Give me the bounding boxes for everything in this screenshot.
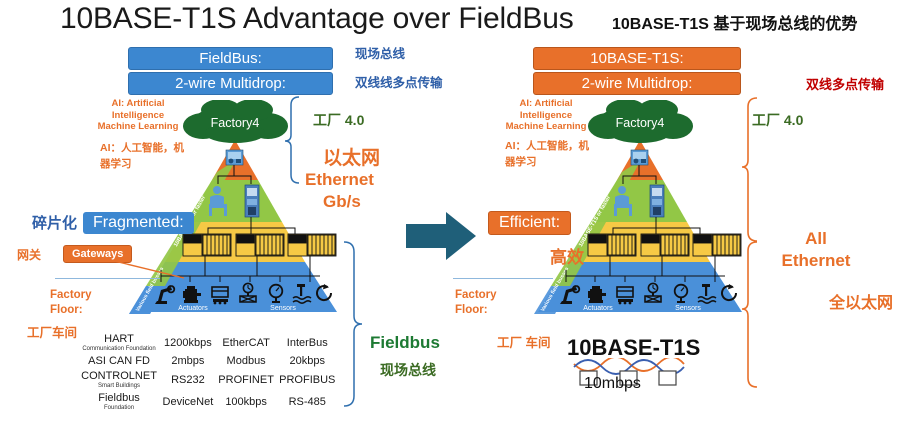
fieldbus-cell: RS232 <box>160 369 216 391</box>
fieldbus-cell: 1200kbps <box>160 332 216 354</box>
table-row: Fieldbus Foundation DeviceNet 100kbps RS… <box>78 391 338 413</box>
fieldbus-cell-name: PROFINET <box>217 374 276 387</box>
right-all-ethernet-line2: Ethernet <box>774 250 858 272</box>
fieldbus-cell: HART Communication Foundation <box>78 332 160 354</box>
right-factory-floor-label: Factory Floor: <box>455 288 497 318</box>
fieldbus-cell-name: PROFIBUS <box>278 374 337 387</box>
right-banner-annotation: 双线多点传输 <box>806 74 884 93</box>
left-banner-annotation-line2: 双线线多点传输 <box>355 72 443 91</box>
fieldbus-cell-name: InterBus <box>278 337 337 350</box>
svg-text:Sensors: Sensors <box>270 305 296 312</box>
right-all-ethernet-line1: All <box>774 228 858 250</box>
fieldbus-cell-name: 1200kbps <box>161 337 215 350</box>
svg-text:Sensors: Sensors <box>675 305 701 312</box>
fieldbus-cell-name: ASI CAN FD <box>79 355 159 368</box>
right-banner-line1: 10BASE-T1S: <box>533 47 741 70</box>
fieldbus-table: HART Communication Foundation 1200kbps E… <box>78 332 338 413</box>
left-factory-floor-zh: 工厂车间 <box>27 322 77 341</box>
fieldbus-cell-name: RS232 <box>161 374 215 387</box>
left-ethernet-zh: 以太网 <box>323 143 380 170</box>
fieldbus-cell-name: RS-485 <box>278 396 337 409</box>
right-efficient-zh: 高效 <box>550 243 584 268</box>
fieldbus-cell-name: CONTROLNET <box>79 370 159 383</box>
page-title-chinese: 10BASE-T1S 基于现场总线的优势 <box>612 10 857 34</box>
svg-text:Factory4: Factory4 <box>616 116 665 130</box>
fieldbus-cell: Fieldbus Foundation <box>78 391 160 413</box>
left-banner-line2: 2-wire Multidrop: <box>128 72 333 95</box>
fieldbus-cell: CONTROLNET Smart Buildings <box>78 369 160 391</box>
fieldbus-cell-name: DeviceNet <box>161 396 215 409</box>
right-all-ethernet-bracket <box>741 240 763 392</box>
right-factory-floor-line1: Factory <box>455 288 497 303</box>
left-banner-annotation-line1: 现场总线 <box>355 43 405 62</box>
fieldbus-cell-name: HART <box>79 333 159 346</box>
right-all-ethernet-label: All Ethernet <box>774 228 858 272</box>
transition-arrow <box>406 210 478 270</box>
fieldbus-protocol-list: HART Communication Foundation 1200kbps E… <box>78 332 338 413</box>
left-fragmented-zh: 碎片化 <box>32 212 77 233</box>
left-fragmented-pill: Fragmented: <box>83 212 194 234</box>
fieldbus-cell: DeviceNet <box>160 391 216 413</box>
left-gateway-zh: 网关 <box>17 246 41 263</box>
fieldbus-cell: PROFINET <box>216 369 277 391</box>
right-floor-divider <box>453 278 553 279</box>
fieldbus-cell-name: EtherCAT <box>217 337 276 350</box>
left-factory-floor-line2: Floor: <box>50 303 92 318</box>
fieldbus-cell: ASI CAN FD <box>78 354 160 369</box>
left-ethernet-en: Ethernet <box>305 170 374 190</box>
right-bus-speed: 10mbps <box>584 375 641 393</box>
left-banner-line1: FieldBus: <box>128 47 333 70</box>
fieldbus-cell: InterBus <box>277 332 338 354</box>
fieldbus-cell-name: 100kbps <box>217 396 276 409</box>
fieldbus-cell-name: Fieldbus <box>79 392 159 405</box>
left-factory-floor-line1: Factory <box>50 288 92 303</box>
table-row: ASI CAN FD 2mbps Modbus 20kbps <box>78 354 338 369</box>
left-fieldbus-bracket-label-en: Fieldbus <box>370 333 440 353</box>
left-floor-divider <box>55 278 160 279</box>
table-row: CONTROLNET Smart Buildings RS232 PROFINE… <box>78 369 338 391</box>
svg-text:Actuators: Actuators <box>583 305 613 312</box>
left-factory-floor-label: Factory Floor: <box>50 288 92 318</box>
fieldbus-cell-name: 20kbps <box>278 355 337 368</box>
fieldbus-cell: 100kbps <box>216 391 277 413</box>
fieldbus-cell-name: 2mbps <box>161 355 215 368</box>
left-ethernet-speed: Gb/s <box>323 192 361 212</box>
left-banner: FieldBus: 2-wire Multidrop: <box>128 47 333 95</box>
fieldbus-cell-sub: Communication Foundation <box>79 346 159 353</box>
left-fieldbus-bracket-label-zh: 现场总线 <box>380 360 436 380</box>
fieldbus-cell: PROFIBUS <box>277 369 338 391</box>
right-factory-floor-zh: 工厂 车间 <box>497 332 550 351</box>
left-factory40-zh: 工厂 4.0 <box>313 110 364 130</box>
fieldbus-cell: EtherCAT <box>216 332 277 354</box>
left-fieldbus-bracket <box>340 240 366 415</box>
fieldbus-cell-name: Modbus <box>217 355 276 368</box>
right-factory40-zh: 工厂 4.0 <box>752 110 803 130</box>
fieldbus-cell-sub: Smart Buildings <box>79 383 159 390</box>
page-title-english: 10BASE-T1S Advantage over FieldBus <box>60 2 480 36</box>
fieldbus-cell: 2mbps <box>160 354 216 369</box>
right-factory-floor-line2: Floor: <box>455 303 497 318</box>
table-row: HART Communication Foundation 1200kbps E… <box>78 332 338 354</box>
svg-text:Factory4: Factory4 <box>211 116 260 130</box>
fieldbus-cell: 20kbps <box>277 354 338 369</box>
fieldbus-cell: Modbus <box>216 354 277 369</box>
right-efficient-pill: Efficient: <box>488 211 571 235</box>
right-banner-line2: 2-wire Multidrop: <box>533 72 741 95</box>
fieldbus-cell-sub: Foundation <box>79 405 159 412</box>
right-all-ethernet-zh: 全以太网 <box>829 289 893 313</box>
svg-text:Actuators: Actuators <box>178 305 208 312</box>
fieldbus-cell: RS-485 <box>277 391 338 413</box>
right-banner: 10BASE-T1S: 2-wire Multidrop: <box>533 47 741 95</box>
